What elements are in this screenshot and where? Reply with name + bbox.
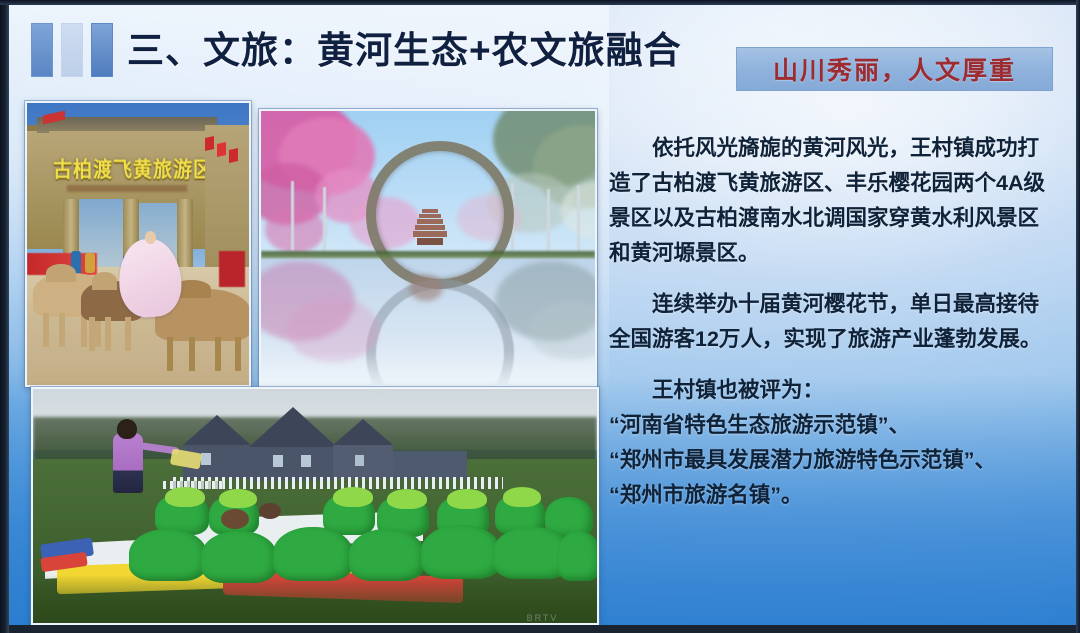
- presentation-slide: 三、文旅：黄河生态+农文旅融合 山川秀丽，人文厚重 古柏渡飞黄旅游区: [9, 5, 1076, 625]
- paragraph-3-lead: 王村镇也被评为：: [609, 373, 1059, 408]
- slogan-banner: 山川秀丽，人文厚重: [736, 47, 1053, 91]
- broadcast-watermark: BRTV: [9, 613, 1076, 623]
- screen-bezel-top: [0, 0, 1080, 5]
- photo-kids-lawn: [31, 387, 599, 625]
- award-item-3: “郑州市旅游名镇”。: [609, 478, 1059, 513]
- gate-signboard-text: 古柏渡飞黄旅游区: [53, 153, 215, 184]
- paragraph-2: 连续举办十届黄河樱花节，单日最高接待全国游客12万人，实现了旅游产业蓬勃发展。: [609, 287, 1059, 357]
- slogan-banner-text: 山川秀丽，人文厚重: [773, 51, 1016, 87]
- title-accent-bar-2: [61, 23, 83, 77]
- photo-scenic-gate: 古柏渡飞黄旅游区: [25, 101, 251, 387]
- page-title: 三、文旅：黄河生态+农文旅融合: [127, 20, 682, 74]
- title-accent-bar-1: [31, 23, 53, 77]
- screen-bezel-bottom: [0, 625, 1080, 633]
- screen-bezel-left: [0, 0, 9, 633]
- projector-screen-photo: 三、文旅：黄河生态+农文旅融合 山川秀丽，人文厚重 古柏渡飞黄旅游区: [0, 0, 1080, 633]
- slide-title-block: 三、文旅：黄河生态+农文旅融合: [9, 23, 649, 85]
- award-item-1: “河南省特色生态旅游示范镇”、: [609, 408, 1059, 443]
- body-copy: 依托风光旖旎的黄河风光，王村镇成功打造了古柏渡飞黄旅游区、丰乐樱花园两个4A级景…: [609, 131, 1059, 513]
- photo-cherry-blossom: [259, 109, 597, 387]
- title-accent-bar-3: [91, 23, 113, 77]
- award-item-2: “郑州市最具发展潜力旅游特色示范镇”、: [609, 443, 1059, 478]
- paragraph-1: 依托风光旖旎的黄河风光，王村镇成功打造了古柏渡飞黄旅游区、丰乐樱花园两个4A级景…: [609, 131, 1059, 271]
- screen-bezel-right: [1076, 0, 1080, 633]
- gate-signboard: 古柏渡飞黄旅游区: [53, 155, 215, 181]
